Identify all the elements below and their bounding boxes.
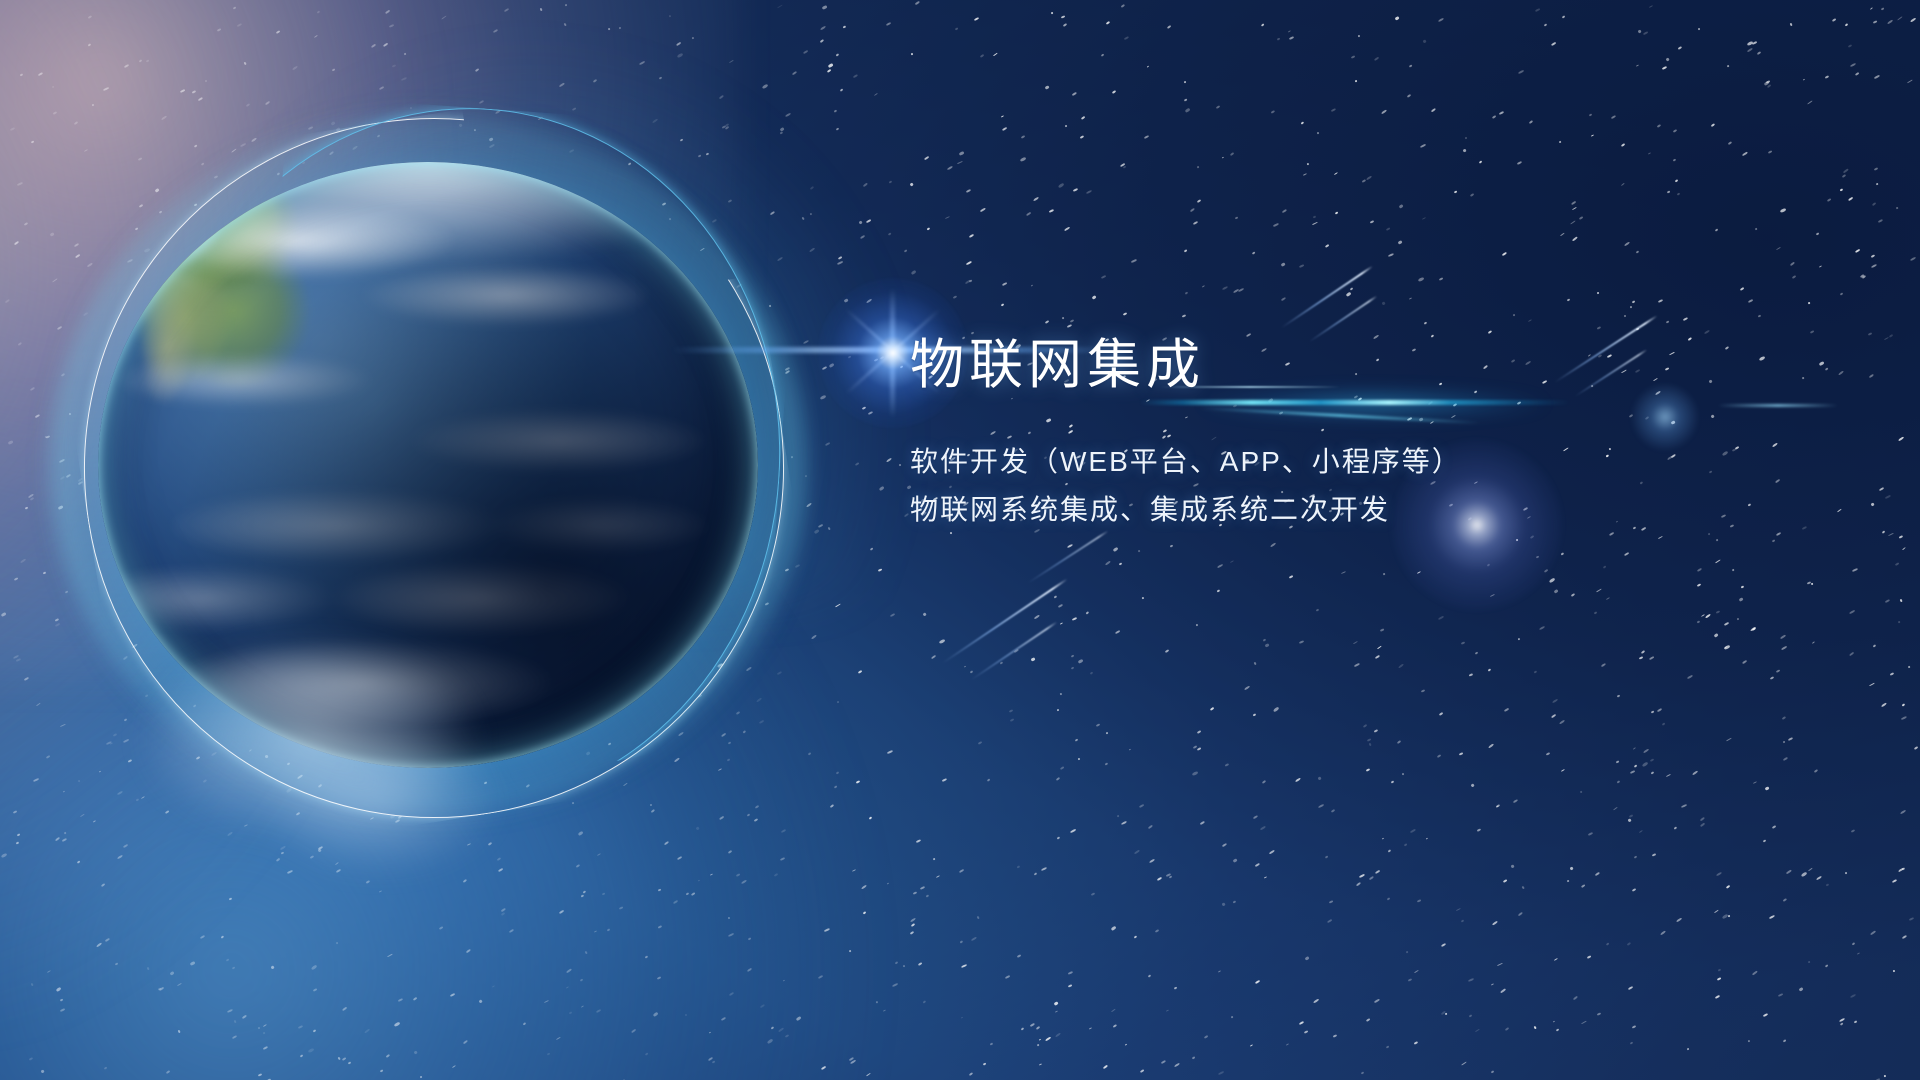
right-edge-streak — [1718, 404, 1838, 407]
page-title: 物联网集成 — [910, 338, 1610, 392]
hero-subtitle: 软件开发（WEB平台、APP、小程序等） 物联网系统集成、集成系统二次开发 — [910, 438, 1610, 534]
subtitle-line-2: 物联网系统集成、集成系统二次开发 — [910, 486, 1610, 534]
hero-copy-block: 物联网集成 软件开发（WEB平台、APP、小程序等） 物联网系统集成、集成系统二… — [910, 338, 1610, 534]
subtitle-line-1: 软件开发（WEB平台、APP、小程序等） — [910, 438, 1610, 486]
hero-banner: 物联网集成 软件开发（WEB平台、APP、小程序等） 物联网系统集成、集成系统二… — [0, 0, 1920, 1080]
